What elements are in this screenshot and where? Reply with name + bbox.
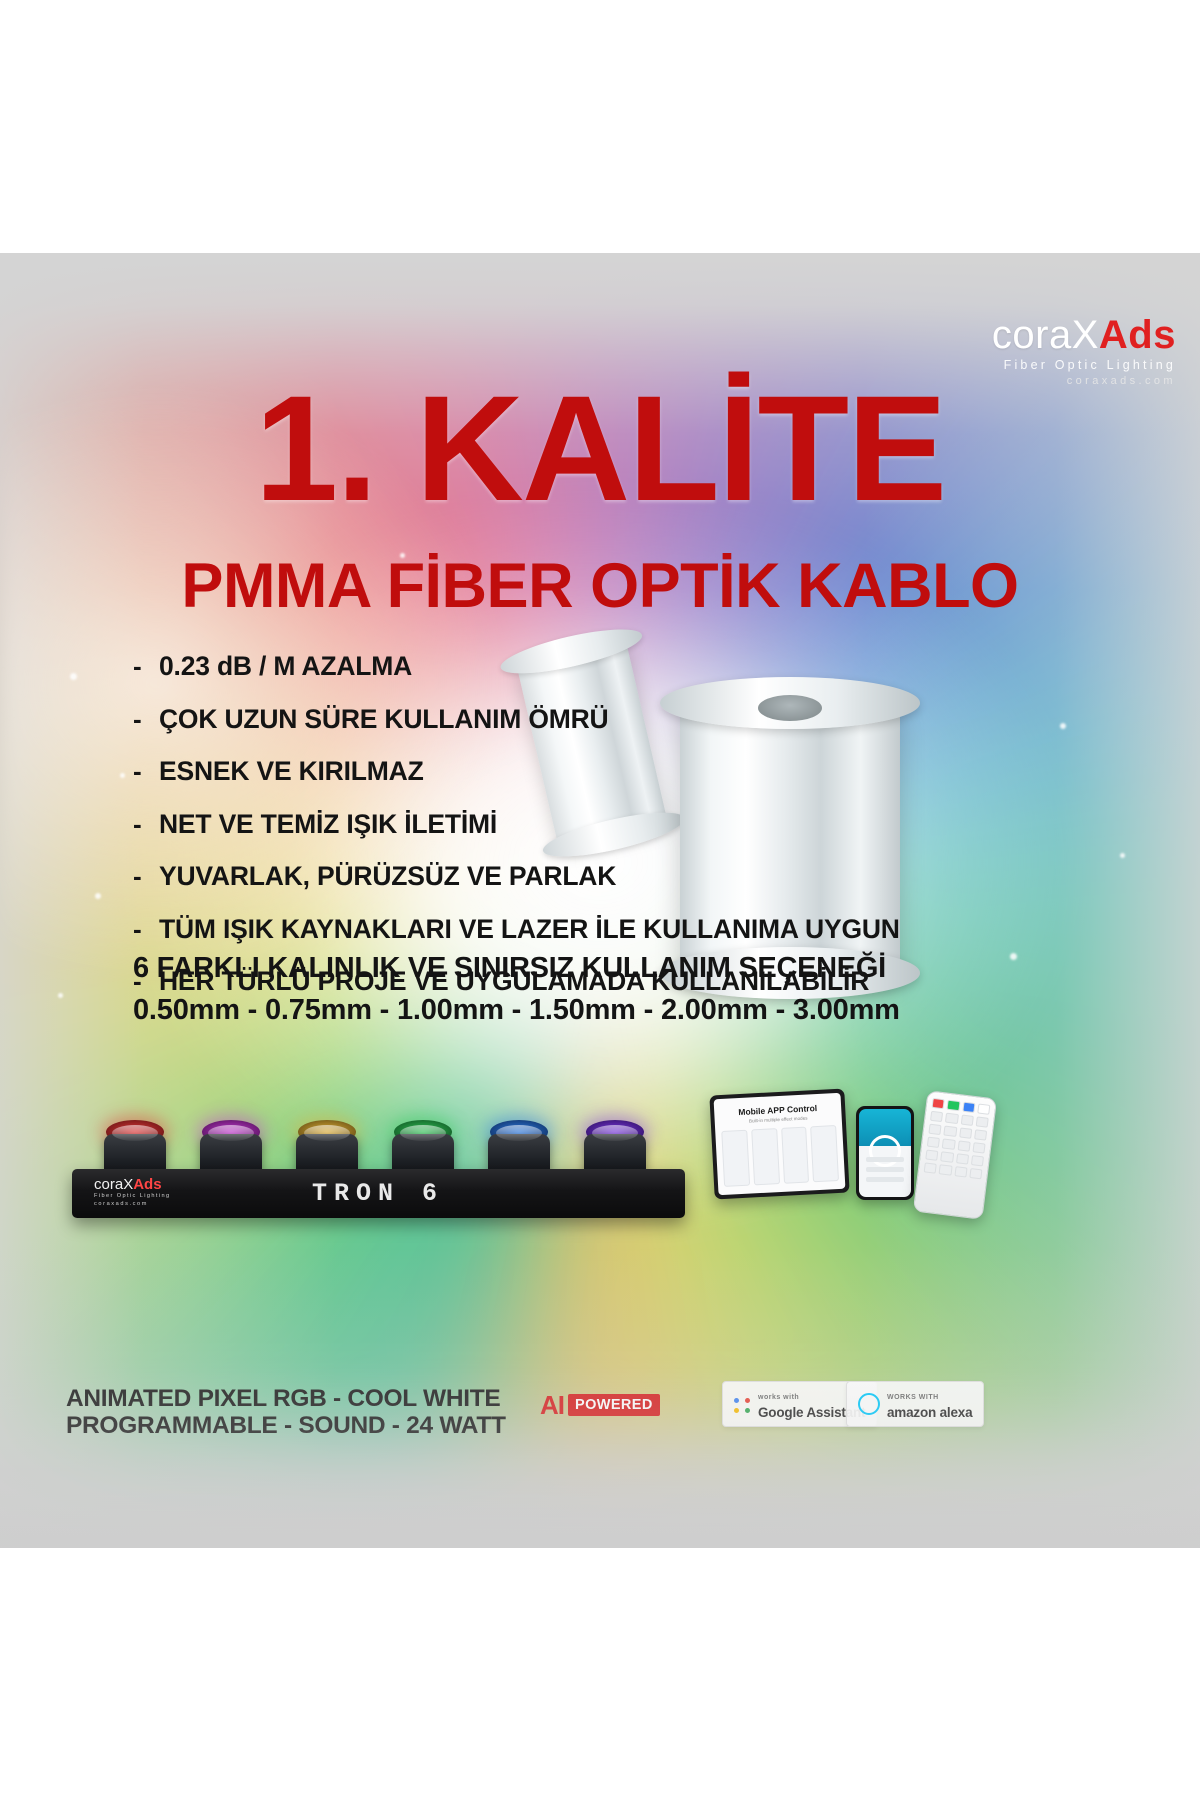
remote-key bbox=[939, 1164, 952, 1175]
device-brand-url: coraxads.com bbox=[94, 1202, 171, 1208]
remote-key bbox=[962, 1102, 975, 1113]
bottom-fade bbox=[0, 1248, 1200, 1548]
list-item-label: NET VE TEMİZ IŞIK İLETİMİ bbox=[159, 811, 497, 838]
phone-list-row bbox=[866, 1177, 904, 1182]
remote-key bbox=[959, 1127, 972, 1138]
bullet-dash: - bbox=[133, 863, 145, 889]
remote-keypad bbox=[924, 1098, 991, 1180]
app-thumb-settings bbox=[810, 1125, 839, 1182]
nozzle-cap bbox=[208, 1125, 254, 1141]
remote-control-mockup bbox=[913, 1090, 997, 1220]
remote-key bbox=[971, 1155, 984, 1166]
phone-screen bbox=[859, 1109, 911, 1197]
list-item-label: 0.23 dB / M AZALMA bbox=[159, 653, 412, 680]
sparkle-dot bbox=[1060, 723, 1066, 729]
list-item: -NET VE TEMİZ IŞIK İLETİMİ bbox=[133, 811, 963, 838]
brand-tagline: Fiber Optic Lighting bbox=[992, 359, 1176, 372]
options-sizes: 0.50mm - 0.75mm - 1.00mm - 1.50mm - 2.00… bbox=[133, 993, 973, 1027]
list-item: -0.23 dB / M AZALMA bbox=[133, 653, 963, 680]
bullet-dash: - bbox=[133, 758, 145, 784]
remote-key bbox=[924, 1162, 937, 1173]
phone-list-row bbox=[866, 1157, 904, 1162]
tron-controller-bar: coraXAds Fiber Optic Lighting coraxads.c… bbox=[72, 1169, 685, 1218]
list-item: -ESNEK VE KIRILMAZ bbox=[133, 758, 963, 785]
brand-logo-cora: cora bbox=[992, 313, 1072, 357]
tablet-screen: Mobile APP Control Built-in multiple eff… bbox=[714, 1093, 846, 1196]
list-item-label: TÜM IŞIK KAYNAKLARI VE LAZER İLE KULLANI… bbox=[159, 916, 900, 943]
app-thumb-rgb bbox=[721, 1130, 750, 1187]
brand-logo-ads: Ads bbox=[1099, 313, 1176, 357]
remote-key bbox=[942, 1138, 955, 1149]
list-item: -YUVARLAK, PÜRÜZSÜZ VE PARLAK bbox=[133, 863, 963, 890]
remote-key bbox=[957, 1140, 970, 1151]
bullet-dash: - bbox=[133, 706, 145, 732]
remote-key bbox=[927, 1137, 940, 1148]
remote-key bbox=[969, 1168, 982, 1179]
brand-logo-x: X bbox=[1072, 313, 1099, 357]
remote-key bbox=[945, 1113, 958, 1124]
device-model-name: TRON 6 bbox=[312, 1179, 444, 1208]
advertisement-artwork: coraXAds Fiber Optic Lighting coraxads.c… bbox=[0, 253, 1200, 1548]
remote-key bbox=[932, 1098, 945, 1109]
app-thumb-scenes bbox=[781, 1127, 810, 1184]
nozzle-cap bbox=[304, 1125, 350, 1141]
brand-logo-wordmark: coraXAds bbox=[992, 315, 1176, 355]
sparkle-dot bbox=[1010, 953, 1017, 960]
options-title: 6 FARKLI KALINLIK VE SINIRSIZ KULLANIM S… bbox=[133, 951, 973, 985]
bullet-dash: - bbox=[133, 653, 145, 679]
remote-key bbox=[930, 1111, 943, 1122]
list-item-label: ÇOK UZUN SÜRE KULLANIM ÖMRÜ bbox=[159, 706, 609, 733]
tablet-mockup: Mobile APP Control Built-in multiple eff… bbox=[709, 1089, 849, 1200]
nozzle-cap bbox=[112, 1125, 158, 1141]
bullet-dash: - bbox=[133, 916, 145, 942]
list-item-label: YUVARLAK, PÜRÜZSÜZ VE PARLAK bbox=[159, 863, 616, 890]
app-screenshot-row bbox=[721, 1125, 839, 1187]
remote-key bbox=[977, 1103, 990, 1114]
remote-key bbox=[956, 1153, 969, 1164]
ad-canvas: coraXAds Fiber Optic Lighting coraxads.c… bbox=[0, 0, 1200, 1800]
nozzle-cap bbox=[400, 1125, 446, 1141]
brand-logo: coraXAds Fiber Optic Lighting coraxads.c… bbox=[992, 315, 1176, 387]
remote-key bbox=[975, 1116, 988, 1127]
list-item-label: ESNEK VE KIRILMAZ bbox=[159, 758, 424, 785]
device-brand-tagline: Fiber Optic Lighting bbox=[94, 1194, 171, 1200]
device-brand-x: X bbox=[123, 1176, 133, 1193]
device-brand-ads: Ads bbox=[133, 1176, 161, 1193]
remote-key bbox=[947, 1100, 960, 1111]
remote-key bbox=[974, 1129, 987, 1140]
nozzle-cap bbox=[496, 1125, 542, 1141]
device-brand-cora: cora bbox=[94, 1176, 123, 1193]
device-brand-wordmark: coraXAds bbox=[94, 1177, 171, 1192]
remote-key bbox=[972, 1142, 985, 1153]
list-item: -TÜM IŞIK KAYNAKLARI VE LAZER İLE KULLAN… bbox=[133, 916, 963, 943]
nozzle-cap bbox=[592, 1125, 638, 1141]
thickness-options: 6 FARKLI KALINLIK VE SINIRSIZ KULLANIM S… bbox=[133, 951, 973, 1027]
app-thumb-effects bbox=[751, 1128, 780, 1185]
sparkle-dot bbox=[120, 773, 125, 778]
device-brand-logo: coraXAds Fiber Optic Lighting coraxads.c… bbox=[94, 1177, 171, 1207]
phone-list-row bbox=[866, 1167, 904, 1172]
sparkle-dot bbox=[70, 673, 77, 680]
sparkle-dot bbox=[1120, 853, 1125, 858]
remote-key bbox=[960, 1114, 973, 1125]
bullet-dash: - bbox=[133, 811, 145, 837]
sparkle-dot bbox=[58, 993, 63, 998]
phone-mockup bbox=[856, 1106, 914, 1200]
remote-key bbox=[944, 1126, 957, 1137]
remote-key bbox=[940, 1151, 953, 1162]
remote-key bbox=[928, 1124, 941, 1135]
phone-dial-icon bbox=[869, 1135, 901, 1167]
remote-key bbox=[954, 1166, 967, 1177]
list-item: -ÇOK UZUN SÜRE KULLANIM ÖMRÜ bbox=[133, 706, 963, 733]
sparkle-dot bbox=[95, 893, 101, 899]
page-title: 1. KALİTE bbox=[0, 379, 1200, 517]
page-subtitle: PMMA FİBER OPTİK KABLO bbox=[0, 550, 1200, 622]
remote-key bbox=[925, 1149, 938, 1160]
